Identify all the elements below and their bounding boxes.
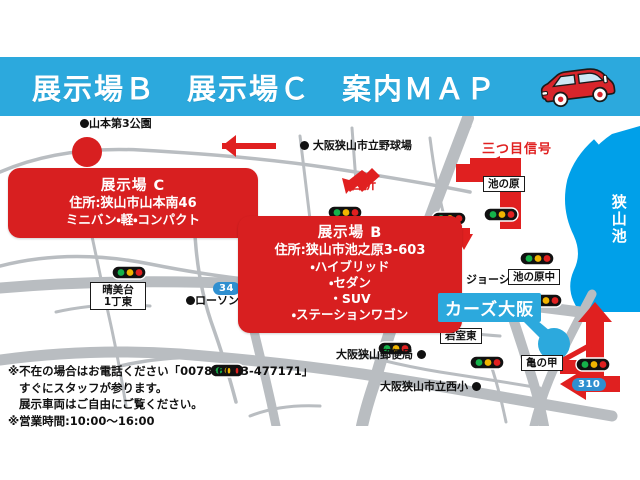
footer-line-2: 展示車両はご自由にご覧ください。 [8,396,313,413]
signal-name-ikenohara-naka: 池の原中 [508,269,560,285]
signal-name-harumidai-1chome-higashi: 晴美台1丁東 [90,282,146,310]
callout-b-item-2: ・SUV [244,291,456,307]
note-third-signal: 三つ目信号 [482,138,552,157]
poi-dot-icon [80,119,89,128]
label-sayama-ike: 狭山池 [610,194,626,245]
poi-dot-icon [417,350,426,359]
signal-name-ikenohara: 池の原 [483,176,525,192]
route-shield-310: 310 [572,378,606,391]
poi-dot-icon [300,141,309,150]
poi-osaka-sayama-baseball-stadium: 大阪狭山市立野球場 [300,140,412,151]
poi-lawson: ローソン [186,295,239,306]
callout-c-address: 住所:狭山市山本南46 [14,196,252,213]
poi-yamamoto-3rd-park: 山本第3公園 [80,118,152,129]
page-title: 展示場Ｂ 展示場Ｃ 案内ＭＡＰ [32,66,497,108]
callout-c-item-0: ミニバン・軽・コンパクト [14,212,252,228]
callout-exhibition-c: 展示場 C 住所:狭山市山本南46 ミニバン・軽・コンパクト [8,168,258,238]
footer-line-1: すぐにスタッフが参ります。 [8,380,313,397]
footer-line-3: ※営業時間:10:00～16:00 [8,413,313,430]
footer-line-0: ※不在の場合はお電話ください「0078-6003-477171」 [8,363,313,380]
footer-note: ※不在の場合はお電話ください「0078-6003-477171」 すぐにスタッフ… [8,363,313,430]
callout-b-title: 展示場 B [244,224,456,243]
route-shield-34: 34 [213,282,240,295]
callout-b-item-0: ・ハイブリッド [244,259,456,275]
red-car-icon [536,65,618,109]
signal-name-kamenoko: 亀の甲 [521,355,563,371]
map-flyer: 展示場Ｂ 展示場Ｃ 案内ＭＡＰ [0,0,640,480]
poi-dot-icon [186,296,195,305]
callout-b-address: 住所:狭山市池之原3-603 [244,243,456,260]
shop-sign-cars-osaka: カーズ大阪 [438,293,541,322]
poi-osaka-sayama-nishi-elementary: 大阪狭山市立西小 [380,381,481,392]
poi-dot-icon [472,382,481,391]
callout-c-title: 展示場 C [14,177,252,196]
callout-exhibition-b: 展示場 B 住所:狭山市池之原3-603 ・ハイブリッド ・セダン ・SUV ・… [238,216,462,333]
callout-b-item-1: ・セダン [244,275,456,291]
note-turn-right: 右折 [349,174,377,193]
poi-osaka-sayama-post-office: 大阪狭山郵便局 [336,349,426,360]
callout-b-item-3: ・ステーションワゴン [244,307,456,323]
header-band: 展示場Ｂ 展示場Ｃ 案内ＭＡＰ [0,57,640,116]
